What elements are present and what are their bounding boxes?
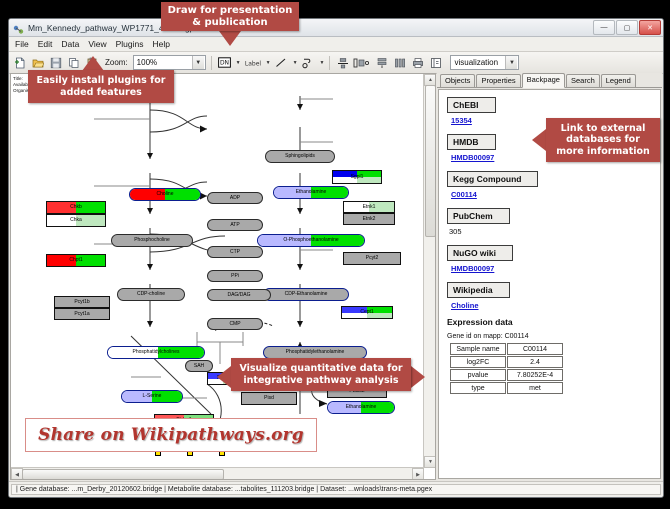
- gene-label: Pcyt1b: [74, 300, 89, 305]
- callout-visualize: Visualize quantitative data for integrat…: [231, 358, 411, 391]
- print-icon[interactable]: [410, 55, 425, 70]
- expression-data-title: Expression data: [447, 317, 660, 327]
- node-label: O-Phosphoethanolamine: [283, 238, 338, 243]
- menu-item-edit[interactable]: Edit: [38, 39, 53, 49]
- new-file-icon[interactable]: [12, 55, 27, 70]
- section-header-nugo: NuGO wiki: [447, 245, 513, 261]
- title-bar: Mm_Kennedy_pathway_WP1771_45176.gpml — ▢…: [9, 19, 663, 37]
- datanode-dropdown-caret[interactable]: ▼: [236, 60, 241, 66]
- gene-pcyt1b[interactable]: Pcyt1b: [54, 296, 110, 308]
- open-folder-icon[interactable]: [30, 55, 45, 70]
- gene-pcyt2[interactable]: Pcyt2: [343, 252, 401, 265]
- callout-plugins-text: Easily install plugins for added feature…: [37, 75, 166, 97]
- hscroll-thumb[interactable]: [22, 469, 224, 480]
- menu-item-help[interactable]: Help: [153, 39, 170, 49]
- shape-icon[interactable]: [301, 55, 316, 70]
- copy-icon[interactable]: [66, 55, 81, 70]
- node-cmp[interactable]: CMP: [207, 318, 263, 330]
- node-label: CDP-Ethanolamine: [285, 292, 328, 297]
- node-label: DAG/DAG: [227, 293, 250, 298]
- node-atp[interactable]: ATP: [207, 219, 263, 231]
- group-icon[interactable]: [353, 55, 371, 70]
- value-pubchem: 305: [449, 227, 660, 236]
- tab-search[interactable]: Search: [566, 74, 600, 87]
- svg-text:Label: Label: [245, 60, 262, 67]
- link-kegg[interactable]: C00114: [451, 190, 660, 199]
- table-row: Sample name C00114: [450, 343, 563, 355]
- callout-draw: Draw for presentation & publication: [161, 2, 299, 31]
- gene-label: Etnk2: [363, 217, 376, 222]
- node-phosphocholine[interactable]: Phosphocholine: [111, 234, 193, 247]
- gene-chkb[interactable]: Chkb: [46, 201, 106, 214]
- node-cdp-choline[interactable]: CDP-choline: [117, 288, 185, 301]
- gene-label: Etnk1: [363, 205, 376, 210]
- node-sah[interactable]: SAH: [185, 360, 213, 372]
- label-dropdown-caret[interactable]: ▼: [266, 60, 271, 66]
- shape-dropdown-caret[interactable]: ▼: [320, 60, 325, 66]
- node-label: Phosphocholine: [134, 238, 170, 243]
- gene-label: Pcyt1a: [74, 312, 89, 317]
- node-label: ADP: [230, 196, 240, 201]
- zoom-combo[interactable]: 100% ▼: [133, 55, 206, 70]
- status-text: | Gene database: ...m_Derby_20120602.bri…: [11, 484, 661, 495]
- section-header-kegg: Kegg Compound: [447, 171, 538, 187]
- node-o-phosphoethanolamine[interactable]: O-Phosphoethanolamine: [257, 234, 365, 247]
- cell-value: 2.4: [507, 356, 563, 368]
- gene-label: Sgpl1: [351, 175, 364, 180]
- menu-item-file[interactable]: File: [15, 39, 29, 49]
- visualization-combo[interactable]: visualization ▼: [450, 55, 519, 70]
- tab-objects[interactable]: Objects: [440, 74, 475, 87]
- gene-etnk2[interactable]: Etnk2: [343, 213, 395, 225]
- callout-plugins-arrow-icon: [82, 56, 104, 71]
- section-header-hmdb: HMDB: [447, 134, 496, 150]
- scroll-down-icon[interactable]: ▼: [424, 456, 436, 468]
- gene-pcyt1a[interactable]: Pcyt1a: [54, 308, 110, 320]
- gene-pisd[interactable]: Pisd: [241, 392, 297, 405]
- cell-value: C00114: [507, 343, 563, 355]
- gene-cept1[interactable]: Cept1: [341, 306, 393, 319]
- node-label: Sphingolipids: [285, 154, 315, 159]
- callout-visualize-arrow-icon: [217, 366, 231, 388]
- gene-id-on-mapp: Gene id on mapp: C00114: [447, 333, 660, 340]
- status-bar: | Gene database: ...m_Derby_20120602.bri…: [9, 481, 663, 497]
- save-icon[interactable]: [48, 55, 63, 70]
- node-ethanolamine-top[interactable]: Ethanolamine: [273, 186, 349, 199]
- menu-item-plugins[interactable]: Plugins: [116, 39, 144, 49]
- section-header-chebi: ChEBI: [447, 97, 496, 113]
- cell-value: met: [507, 382, 563, 394]
- cell-key: type: [450, 382, 506, 394]
- expression-table: Sample name C00114 log2FC 2.4 pvalue 7.8…: [449, 342, 564, 395]
- gene-label: Cept1: [360, 310, 373, 315]
- svg-text:DN: DN: [220, 60, 229, 67]
- cell-key: log2FC: [450, 356, 506, 368]
- app-icon: [13, 22, 24, 33]
- menu-bar: File Edit Data View Plugins Help: [9, 37, 663, 52]
- table-row: log2FC 2.4: [450, 356, 563, 368]
- gene-chpt1[interactable]: Chpt1: [46, 254, 106, 267]
- line-dropdown-caret[interactable]: ▼: [293, 60, 298, 66]
- maximize-button[interactable]: ▢: [616, 20, 638, 35]
- label-icon[interactable]: Label: [244, 55, 262, 70]
- distribute-icon[interactable]: [392, 55, 407, 70]
- zoom-value: 100%: [137, 58, 157, 67]
- chevron-down-icon-2[interactable]: ▼: [505, 56, 517, 69]
- gene-label: Pisd: [264, 396, 274, 401]
- callout-visualize-arrow-right-icon: [411, 366, 425, 388]
- datanode-icon[interactable]: DN: [217, 55, 232, 70]
- gene-label: Chkb: [70, 205, 82, 210]
- node-label: L-Serine: [143, 394, 162, 399]
- gene-label: Chka: [70, 218, 82, 223]
- visualization-value: visualization: [454, 58, 498, 67]
- node-label: CTP: [230, 250, 240, 255]
- screenshot-root: Mm_Kennedy_pathway_WP1771_45176.gpml — ▢…: [0, 0, 670, 509]
- callout-share-text: Share on Wikipathways.org: [38, 425, 304, 445]
- close-button[interactable]: ✕: [639, 20, 661, 35]
- gene-etnk1[interactable]: Etnk1: [343, 201, 395, 213]
- node-dag[interactable]: DAG/DAG: [207, 289, 271, 301]
- callout-draw-arrow-icon: [219, 31, 241, 46]
- node-label: ATP: [230, 223, 239, 228]
- menu-item-data[interactable]: Data: [61, 39, 79, 49]
- gene-label: Pcyt2: [366, 256, 379, 261]
- node-label: Ethanolamine: [346, 405, 377, 410]
- node-label: CDP-choline: [137, 292, 165, 297]
- cell-value: 7.80252E-4: [507, 369, 563, 381]
- node-label: CMP: [229, 322, 240, 327]
- scroll-right-icon[interactable]: ▶: [412, 468, 424, 480]
- canvas-vertical-scrollbar[interactable]: ▲ ▼: [423, 74, 435, 468]
- cell-key: Sample name: [450, 343, 506, 355]
- gene-chka[interactable]: Chka: [46, 214, 106, 227]
- section-header-pubchem: PubChem: [447, 208, 510, 224]
- gene-sgpl1[interactable]: Sgpl1: [332, 170, 382, 184]
- callout-draw-text: Draw for presentation & publication: [168, 5, 293, 29]
- tab-properties[interactable]: Properties: [476, 74, 520, 87]
- node-label: Phosphatidylcholines: [133, 350, 180, 355]
- toolbar-separator-2: [329, 56, 330, 70]
- gene-label: Chpt1: [69, 258, 82, 263]
- vscroll-thumb[interactable]: [425, 85, 436, 237]
- section-header-wikipedia: Wikipedia: [447, 282, 510, 298]
- callout-plugins: Easily install plugins for added feature…: [28, 70, 174, 103]
- callout-links-text: Link to external databases for more info…: [556, 123, 650, 157]
- node-cdp-ethanolamine[interactable]: CDP-Ethanolamine: [263, 288, 349, 301]
- node-sphingolipids[interactable]: Sphingolipids: [265, 150, 335, 163]
- tab-legend[interactable]: Legend: [601, 74, 636, 87]
- biopax-icon[interactable]: [428, 55, 443, 70]
- table-row: type met: [450, 382, 563, 394]
- chevron-down-icon[interactable]: ▼: [192, 56, 204, 69]
- node-phosphatidylcholines[interactable]: Phosphatidylcholines: [107, 346, 205, 359]
- side-panel-tabs: Objects Properties Backpage Search Legen…: [437, 73, 662, 88]
- link-nugo[interactable]: HMDB00097: [451, 264, 660, 273]
- menu-item-view[interactable]: View: [88, 39, 106, 49]
- minimize-button[interactable]: —: [593, 20, 615, 35]
- link-wikipedia[interactable]: Choline: [451, 301, 660, 310]
- callout-links: Link to external databases for more info…: [546, 118, 660, 162]
- node-label: Phosphatidylethanolamine: [286, 350, 345, 355]
- node-label: PPi: [231, 274, 239, 279]
- canvas-horizontal-scrollbar[interactable]: ◀ ▶: [11, 467, 424, 479]
- node-ppi[interactable]: PPi: [207, 270, 263, 282]
- zoom-label: Zoom:: [105, 58, 128, 67]
- node-l-serine-left[interactable]: L-Serine: [121, 390, 183, 403]
- callout-share: Share on Wikipathways.org: [25, 418, 317, 452]
- toolbar-separator: [211, 56, 212, 70]
- node-choline-top[interactable]: Choline: [129, 188, 201, 201]
- align-icon[interactable]: [335, 55, 350, 70]
- node-label: Choline: [157, 192, 174, 197]
- window-controls: — ▢ ✕: [593, 20, 661, 35]
- node-label: SAH: [194, 364, 204, 369]
- node-ethanolamine-bottom[interactable]: Ethanolamine: [327, 401, 395, 414]
- node-ctp[interactable]: CTP: [207, 246, 263, 258]
- callout-links-arrow-icon: [532, 129, 546, 151]
- tab-backpage[interactable]: Backpage: [522, 73, 565, 88]
- line-icon[interactable]: [274, 55, 289, 70]
- stack-icon[interactable]: [374, 55, 389, 70]
- table-row: pvalue 7.80252E-4: [450, 369, 563, 381]
- node-label: Ethanolamine: [296, 190, 327, 195]
- node-adp[interactable]: ADP: [207, 192, 263, 204]
- callout-visualize-text: Visualize quantitative data for integrat…: [239, 363, 402, 385]
- cell-key: pvalue: [450, 369, 506, 381]
